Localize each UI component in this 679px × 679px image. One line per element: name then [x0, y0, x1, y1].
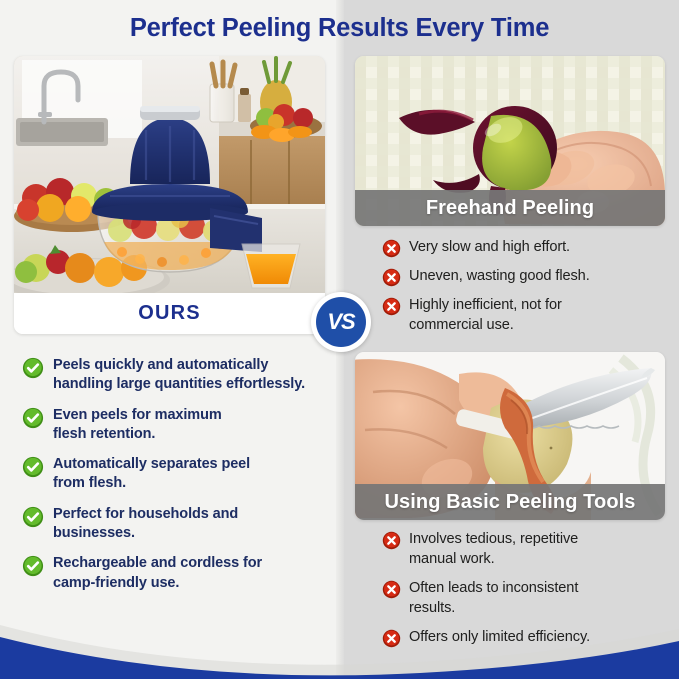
list-item: Uneven, wasting good flesh. — [382, 267, 662, 287]
benefit-text: Rechargeable and cordless for camp-frien… — [53, 554, 262, 593]
freehand-peeling-banner: Freehand Peeling — [355, 190, 665, 226]
list-item: Involves tedious, repetitive manual work… — [382, 530, 664, 569]
check-circle-icon — [22, 506, 44, 528]
freehand-drawbacks-list: Very slow and high effort. Uneven, wasti… — [382, 238, 662, 344]
list-item: Offers only limited efficiency. — [382, 628, 664, 648]
drawback-text: Involves tedious, repetitive manual work… — [409, 530, 578, 569]
ours-label: OURS — [14, 293, 325, 334]
benefit-text: Automatically separates peel from flesh. — [53, 455, 250, 494]
list-item: Automatically separates peel from flesh. — [22, 455, 322, 494]
x-circle-icon — [382, 268, 401, 287]
freehand-peeling-card: Freehand Peeling — [355, 56, 665, 226]
drawback-text: Offers only limited efficiency. — [409, 628, 590, 648]
x-circle-icon — [382, 629, 401, 648]
basic-tools-card: Using Basic Peeling Tools — [355, 352, 665, 520]
x-circle-icon — [382, 297, 401, 316]
infographic-root: Perfect Peeling Results Every Time — [0, 0, 679, 679]
list-item: Perfect for households and businesses. — [22, 505, 322, 544]
drawback-text: Highly inefficient, not for commercial u… — [409, 296, 562, 335]
vs-badge: VS — [311, 292, 371, 352]
drawback-text: Very slow and high effort. — [409, 238, 570, 258]
vs-badge-label: VS — [316, 297, 366, 347]
list-item: Very slow and high effort. — [382, 238, 662, 258]
list-item: Often leads to inconsistent results. — [382, 579, 664, 618]
benefit-text: Perfect for households and businesses. — [53, 505, 238, 544]
check-circle-icon — [22, 456, 44, 478]
ours-benefits-list: Peels quickly and automatically handling… — [22, 356, 322, 604]
ours-card: OURS — [14, 56, 325, 334]
benefit-text: Peels quickly and automatically handling… — [53, 356, 305, 395]
check-circle-icon — [22, 407, 44, 429]
x-circle-icon — [382, 531, 401, 550]
page-title: Perfect Peeling Results Every Time — [0, 14, 679, 43]
ours-product-photo — [14, 56, 325, 293]
x-circle-icon — [382, 580, 401, 599]
list-item: Even peels for maximum flesh retention. — [22, 406, 322, 445]
list-item: Peels quickly and automatically handling… — [22, 356, 322, 395]
drawback-text: Often leads to inconsistent results. — [409, 579, 578, 618]
list-item: Rechargeable and cordless for camp-frien… — [22, 554, 322, 593]
check-circle-icon — [22, 555, 44, 577]
x-circle-icon — [382, 239, 401, 258]
drawback-text: Uneven, wasting good flesh. — [409, 267, 590, 287]
check-circle-icon — [22, 357, 44, 379]
basic-tools-drawbacks-list: Involves tedious, repetitive manual work… — [382, 530, 664, 658]
list-item: Highly inefficient, not for commercial u… — [382, 296, 662, 335]
benefit-text: Even peels for maximum flesh retention. — [53, 406, 222, 445]
basic-tools-banner: Using Basic Peeling Tools — [355, 484, 665, 520]
